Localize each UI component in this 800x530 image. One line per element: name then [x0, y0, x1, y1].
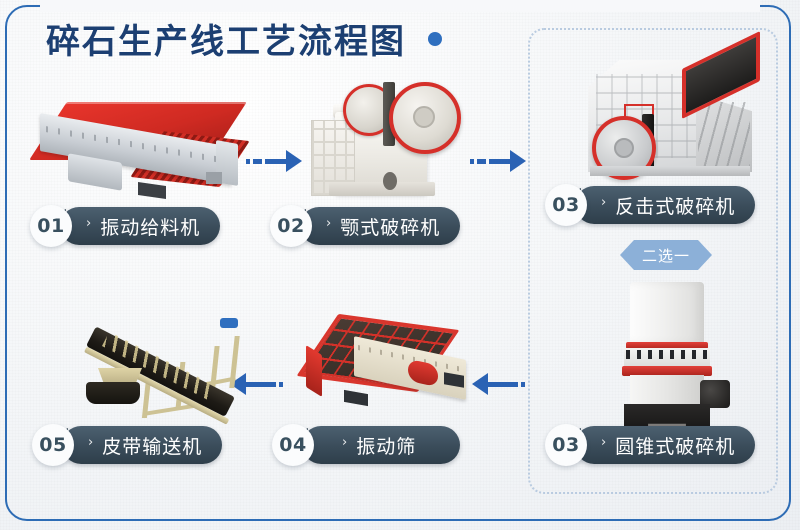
conveyor-head-drum: [86, 382, 140, 404]
station-number-05: 05: [32, 424, 74, 466]
station-number-01: 01: [30, 205, 72, 247]
page-title: 碎石生产线工艺流程图: [46, 14, 406, 63]
chevron-right-icon: ›: [342, 435, 348, 450]
station-label-02[interactable]: 02 › 颚式破碎机: [270, 206, 460, 246]
chevron-right-icon: ›: [86, 216, 92, 231]
impact-crusher-image: [578, 48, 763, 188]
station-title-01: › 振动给料机: [60, 207, 220, 245]
station-title-02: › 颚式破碎机: [300, 207, 460, 245]
station-label-text-03-cone: 圆锥式破碎机: [615, 432, 735, 459]
arrow-shaft: [265, 159, 287, 164]
station-title-05: › 皮带输送机: [62, 426, 222, 464]
arrow-tail-dot: [521, 382, 525, 387]
arrow-tail-dot: [279, 382, 283, 387]
vibrating-screen-image: [300, 316, 480, 416]
station-label-text-03-impact: 反击式破碎机: [615, 192, 735, 219]
station-title-04: › 振动筛: [302, 426, 460, 464]
station-label-text-05: 皮带输送机: [102, 432, 202, 459]
arrow-tail-dash: [509, 382, 518, 387]
arrow-shaft: [489, 159, 511, 164]
station-number-04: 04: [272, 424, 314, 466]
cone-drive-motor: [700, 380, 730, 408]
feeder-foot-front: [138, 182, 166, 199]
feeder-foot-rear: [206, 172, 222, 184]
station-label-03-cone[interactable]: 03 › 圆锥式破碎机: [545, 425, 755, 465]
station-label-05[interactable]: 05 › 皮带输送机: [32, 425, 222, 465]
chevron-right-icon: ›: [88, 435, 94, 450]
flowchart-page: 碎石生产线工艺流程图 二选一 01 › 振动给料机: [0, 0, 800, 530]
choice-badge: 二选一: [620, 240, 712, 270]
jaw-crusher-image: [305, 76, 470, 204]
arrow-tail-dash: [267, 382, 276, 387]
station-title-03-cone: › 圆锥式破碎机: [575, 426, 755, 464]
arrow-jaw-to-crusher-group: [470, 150, 526, 172]
station-label-text-02: 颚式破碎机: [340, 213, 440, 240]
page-title-group: 碎石生产线工艺流程图: [46, 14, 442, 63]
frame-title-notch: [40, 0, 760, 12]
arrow-tail-dash: [253, 159, 262, 164]
arrow-head-right-icon: [286, 150, 302, 172]
arrow-crusher-group-to-screen: [472, 373, 528, 395]
jaw-inspection-hole: [383, 172, 397, 190]
station-label-01[interactable]: 01 › 振动给料机: [30, 206, 220, 246]
arrow-head-right-icon: [510, 150, 526, 172]
station-label-text-01: 振动给料机: [100, 213, 200, 240]
arrow-tail-dot: [470, 159, 474, 164]
conveyor-tail-unit: [220, 318, 238, 328]
station-number-02: 02: [270, 205, 312, 247]
cone-lower-body: [630, 375, 704, 407]
screen-left-frame: [306, 345, 322, 397]
arrow-feeder-to-jaw: [246, 150, 302, 172]
arrow-tail-dot: [246, 159, 250, 164]
station-title-03-impact: › 反击式破碎机: [575, 186, 755, 224]
chevron-right-icon: ›: [326, 216, 332, 231]
arrow-tail-dash: [477, 159, 486, 164]
station-label-03-impact[interactable]: 03 › 反击式破碎机: [545, 185, 755, 225]
cone-crusher-image: [600, 280, 750, 440]
vibrating-feeder-image: [30, 96, 255, 201]
chevron-right-icon: ›: [601, 435, 607, 450]
chevron-right-icon: ›: [601, 195, 607, 210]
impact-base-frame: [590, 166, 750, 176]
blue-dot-icon: [428, 32, 442, 46]
cone-upper-shell: [630, 282, 704, 344]
station-label-04[interactable]: 04 › 振动筛: [272, 425, 460, 465]
station-number-03-impact: 03: [545, 184, 587, 226]
screen-mount-front: [344, 390, 368, 406]
belt-conveyor-image: [82, 306, 262, 418]
cone-bolt-row: [626, 350, 708, 359]
arrow-shaft: [487, 382, 509, 387]
impact-side-ribs: [698, 102, 750, 168]
jaw-flywheel-front: [389, 82, 461, 154]
station-label-text-04: 振动筛: [356, 432, 416, 459]
station-number-03-cone: 03: [545, 424, 587, 466]
jaw-base-frame: [329, 182, 435, 196]
